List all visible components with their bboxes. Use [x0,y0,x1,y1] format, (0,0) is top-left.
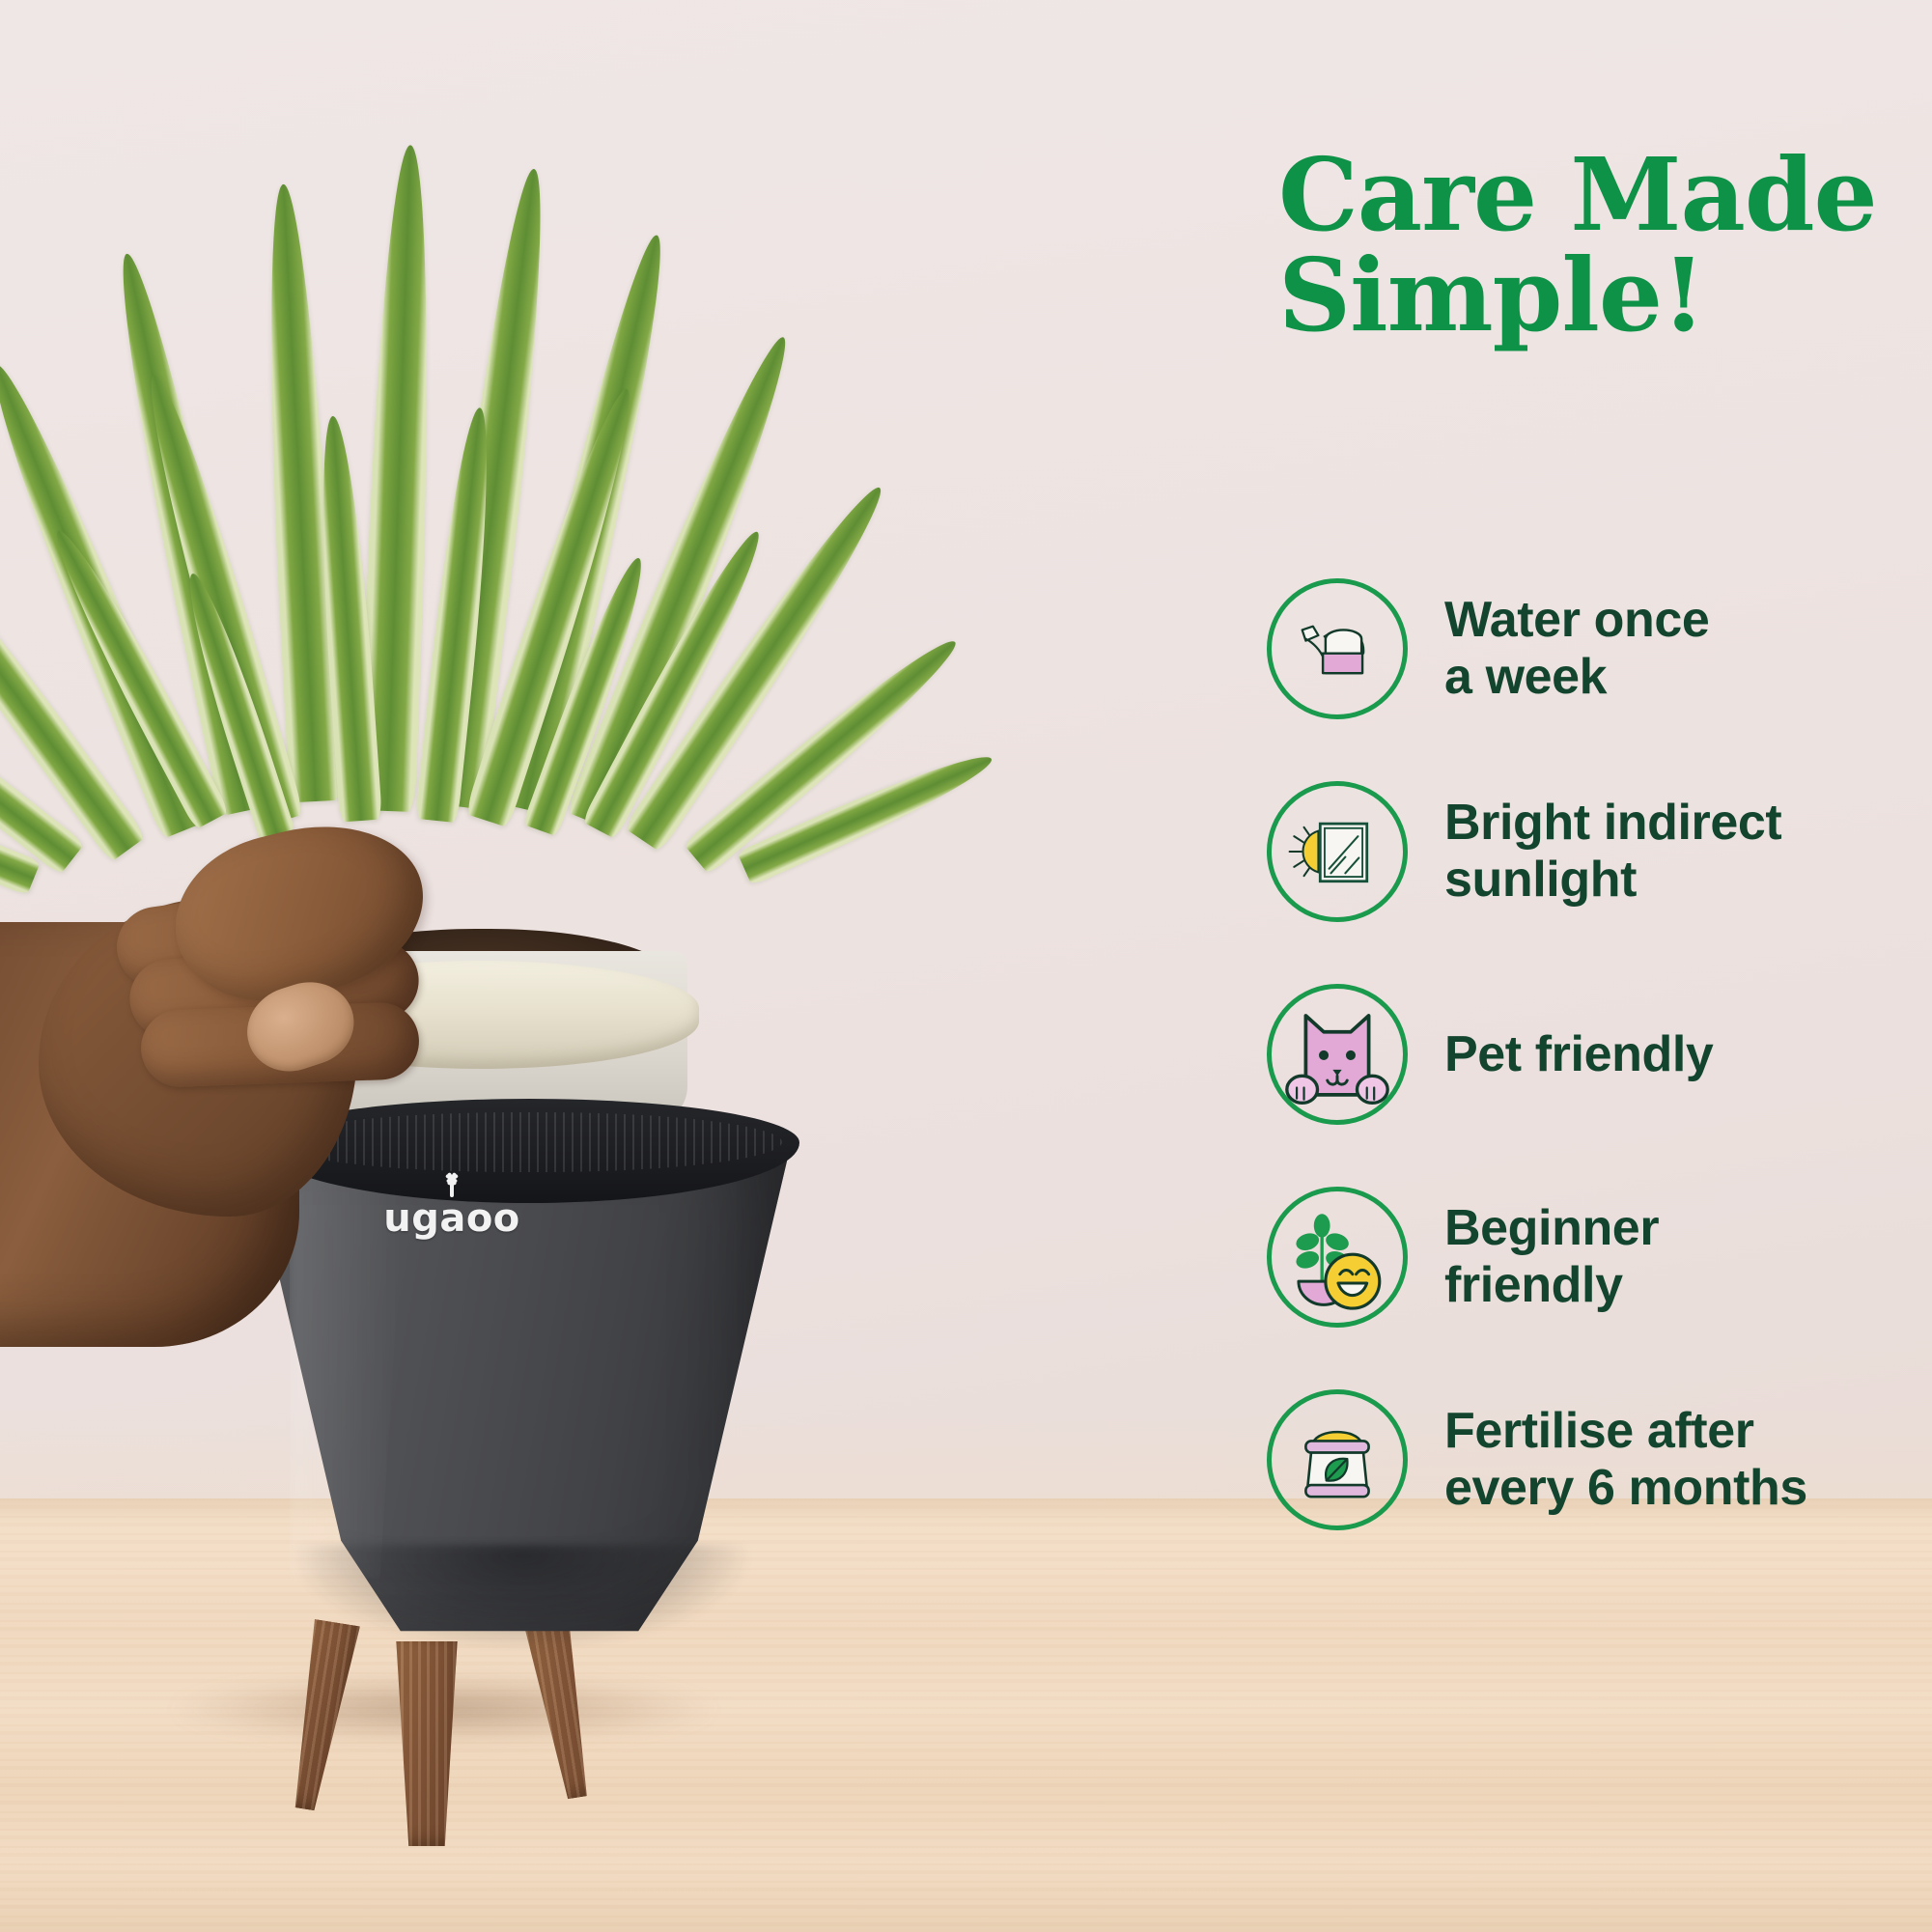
care-label: Water once a week [1444,592,1709,706]
care-label: Beginner friendly [1444,1200,1659,1314]
care-label: Fertilise after every 6 months [1444,1403,1807,1517]
spider-plant-foliage [0,126,975,994]
pot-bottom-shading [290,1545,753,1651]
care-icon-circle [1267,984,1408,1125]
page-title: Care Made Simple! [1278,145,1921,346]
care-row-sunlight: Bright indirect sunlight [1267,780,1932,923]
ugaoo-wordmark: ugaoo [365,1199,539,1238]
watering-can-icon [1272,583,1403,714]
care-row-pet-friendly: Pet friendly [1267,983,1932,1126]
care-row-water: Water once a week [1267,577,1932,720]
pot-leg-center [392,1641,462,1846]
care-icon-circle [1267,1389,1408,1530]
care-instruction-list: Water once a week [1267,577,1932,1591]
care-icon-circle [1267,578,1408,719]
care-label: Bright indirect sunlight [1444,795,1781,909]
title-line-1: Care Made [1278,145,1921,245]
info-column: Care Made Simple! [1265,145,1921,346]
care-icon-circle [1267,781,1408,922]
care-row-fertilise: Fertilise after every 6 months [1267,1388,1932,1531]
cat-face-icon [1272,989,1403,1120]
care-row-beginner-friendly: Beginner friendly [1267,1186,1932,1329]
product-infographic-poster: ugaoo Care Made Simple! [0,0,1932,1932]
fertiliser-bag-icon [1272,1394,1403,1526]
potted-plant-smiley-icon [1272,1191,1403,1323]
care-label: Pet friendly [1444,1026,1713,1083]
window-sun-icon [1272,786,1403,917]
title-line-2: Simple! [1278,245,1921,346]
product-photo: ugaoo [0,0,975,1834]
care-icon-circle [1267,1187,1408,1328]
